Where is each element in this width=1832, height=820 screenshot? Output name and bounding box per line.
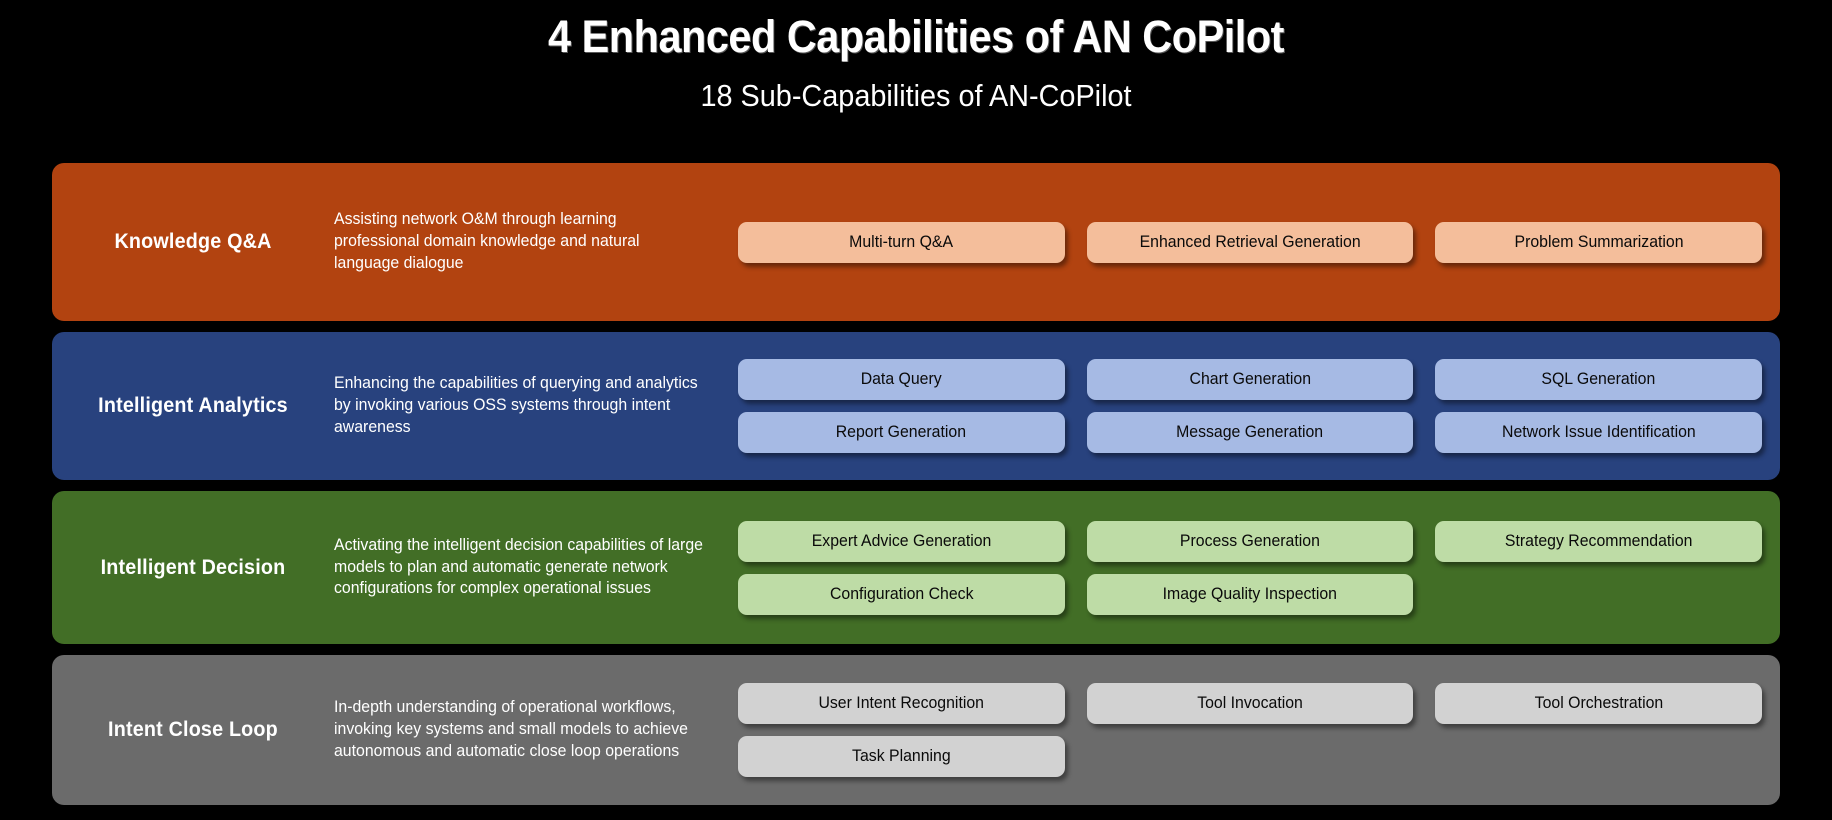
sub-capability-pill[interactable]: Strategy Recommendation	[1435, 521, 1762, 562]
sub-capability-pill[interactable]: Image Quality Inspection	[1087, 574, 1414, 615]
sub-capability-label: Expert Advice Generation	[812, 533, 992, 550]
sub-capability-label: Tool Invocation	[1197, 695, 1303, 712]
sub-capability-label: Data Query	[861, 371, 942, 388]
sub-capability-label: Tool Orchestration	[1534, 695, 1663, 712]
capability-description: Enhancing the capabilities of querying a…	[334, 373, 714, 438]
capability-bands: Knowledge Q&A Assisting network O&M thro…	[52, 163, 1780, 816]
sub-capability-label: Task Planning	[852, 748, 951, 765]
sub-capability-pill[interactable]: Message Generation	[1087, 412, 1414, 453]
sub-capability-pill[interactable]: Expert Advice Generation	[738, 521, 1065, 562]
capability-band-knowledge-qa: Knowledge Q&A Assisting network O&M thro…	[52, 163, 1780, 321]
sub-capability-label: Enhanced Retrieval Generation	[1139, 234, 1360, 251]
sub-capability-pill[interactable]: Problem Summarization	[1435, 222, 1762, 263]
capability-band-intent-close-loop: Intent Close Loop In-depth understanding…	[52, 655, 1780, 805]
sub-capability-pill[interactable]: Network Issue Identification	[1435, 412, 1762, 453]
sub-capability-label: User Intent Recognition	[819, 695, 985, 712]
sub-capability-pill[interactable]: Enhanced Retrieval Generation	[1087, 222, 1414, 263]
sub-capability-pill[interactable]: Tool Orchestration	[1435, 683, 1762, 724]
page-title: 4 Enhanced Capabilities of AN CoPilot	[73, 10, 1758, 63]
header: 4 Enhanced Capabilities of AN CoPilot 18…	[0, 0, 1832, 114]
capability-title: Intelligent Analytics	[60, 393, 325, 418]
capability-title: Intelligent Decision	[60, 555, 325, 580]
sub-capability-pill[interactable]: Data Query	[738, 359, 1065, 400]
sub-capability-list: Data Query Chart Generation SQL Generati…	[730, 359, 1762, 453]
sub-capability-label: Process Generation	[1180, 533, 1320, 550]
sub-capability-list: Multi-turn Q&A Enhanced Retrieval Genera…	[730, 222, 1762, 263]
sub-capability-label: Image Quality Inspection	[1163, 586, 1337, 603]
sub-capability-pill[interactable]: Configuration Check	[738, 574, 1065, 615]
sub-capability-pill[interactable]: Chart Generation	[1087, 359, 1414, 400]
sub-capability-label: Network Issue Identification	[1502, 424, 1696, 441]
sub-capability-pill[interactable]: Report Generation	[738, 412, 1065, 453]
capability-description: Activating the intelligent decision capa…	[334, 535, 714, 600]
sub-capability-pill[interactable]: User Intent Recognition	[738, 683, 1065, 724]
sub-capability-list: Expert Advice Generation Process Generat…	[730, 521, 1762, 615]
capability-band-intelligent-analytics: Intelligent Analytics Enhancing the capa…	[52, 332, 1780, 480]
sub-capability-label: Configuration Check	[830, 586, 974, 603]
capabilities-infographic: 4 Enhanced Capabilities of AN CoPilot 18…	[0, 0, 1832, 820]
sub-capability-pill[interactable]: Process Generation	[1087, 521, 1414, 562]
sub-capability-pill[interactable]: SQL Generation	[1435, 359, 1762, 400]
capability-description: In-depth understanding of operational wo…	[334, 697, 714, 762]
capability-title: Knowledge Q&A	[60, 229, 325, 254]
capability-band-intelligent-decision: Intelligent Decision Activating the inte…	[52, 491, 1780, 644]
sub-capability-pill-placeholder	[1435, 736, 1762, 777]
page-subtitle: 18 Sub-Capabilities of AN-CoPilot	[64, 77, 1768, 114]
sub-capability-pill[interactable]: Task Planning	[738, 736, 1065, 777]
sub-capability-label: Problem Summarization	[1514, 234, 1683, 251]
sub-capability-pill-placeholder	[1435, 574, 1762, 615]
sub-capability-label: Message Generation	[1176, 424, 1323, 441]
sub-capability-list: User Intent Recognition Tool Invocation …	[730, 683, 1762, 777]
sub-capability-label: Strategy Recommendation	[1505, 533, 1693, 550]
sub-capability-label: Report Generation	[836, 424, 966, 441]
capability-title: Intent Close Loop	[60, 717, 325, 742]
sub-capability-label: Multi-turn Q&A	[849, 234, 953, 251]
sub-capability-label: SQL Generation	[1542, 371, 1656, 388]
sub-capability-label: Chart Generation	[1189, 371, 1311, 388]
capability-description: Assisting network O&M through learning p…	[334, 209, 714, 274]
sub-capability-pill-placeholder	[1087, 736, 1414, 777]
sub-capability-pill[interactable]: Multi-turn Q&A	[738, 222, 1065, 263]
sub-capability-pill[interactable]: Tool Invocation	[1087, 683, 1414, 724]
